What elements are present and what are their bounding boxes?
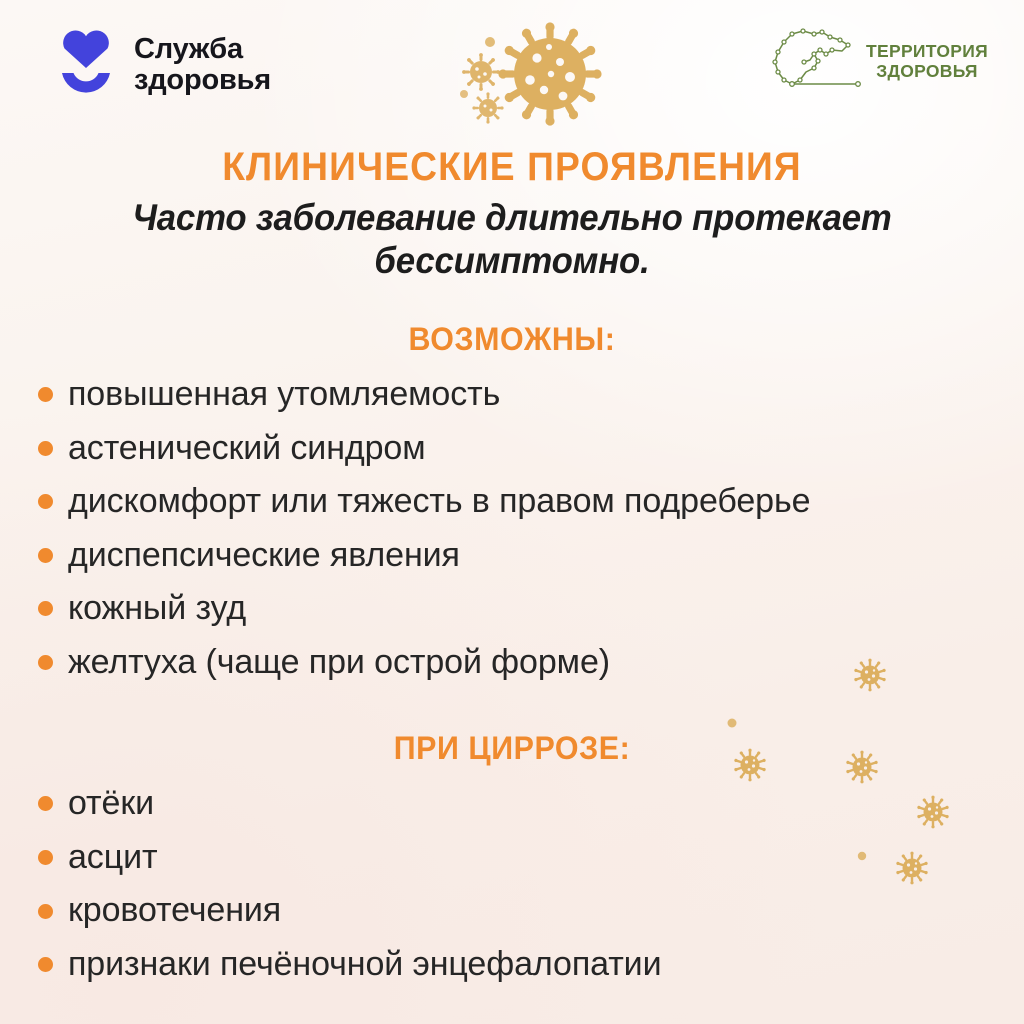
list-item: диспепсические явления [0,533,1024,578]
symptom-list-cirroz: отёки асцит кровотечения признаки печёно… [0,781,1024,986]
section-heading-vozmozhny: ВОЗМОЖНЫ: [26,321,999,358]
logo-territoriya-zdorovya: ТЕРРИТОРИЯ ЗДОРОВЬЯ [770,28,988,94]
logo-sluzhba-zdorovya: Служба здоровья [55,28,271,102]
list-item: желтуха (чаще при острой форме) [0,640,1024,685]
page-title: КЛИНИЧЕСКИЕ ПРОЯВЛЕНИЯ [36,146,988,189]
poster-header: Служба здоровья [0,0,1024,132]
list-item: дискомфорт или тяжесть в правом подребер… [0,479,1024,524]
list-item: асцит [0,835,1024,880]
list-item: отёки [0,781,1024,826]
list-item: астенический синдром [0,426,1024,471]
symptom-list-vozmozhny: повышенная утомляемость астенический син… [0,372,1024,684]
list-item: кожный зуд [0,586,1024,631]
page-subtitle: Часто заболевание длительно протекает бе… [31,197,994,283]
heart-smile-icon [55,28,117,102]
logo-left-label: Служба здоровья [134,34,271,96]
virus-cluster-icon [438,16,628,128]
section-heading-cirroz: ПРИ ЦИРРОЗЕ: [26,730,999,767]
logo-right-label: ТЕРРИТОРИЯ ЗДОРОВЬЯ [866,41,988,82]
list-item: признаки печёночной энцефалопатии [0,942,1024,987]
list-item: кровотечения [0,888,1024,933]
infographic-poster: Служба здоровья [0,0,1024,1024]
list-item: повышенная утомляемость [0,372,1024,417]
poster-content: КЛИНИЧЕСКИЕ ПРОЯВЛЕНИЯ Часто заболевание… [0,146,1024,995]
map-outline-icon [770,28,862,94]
